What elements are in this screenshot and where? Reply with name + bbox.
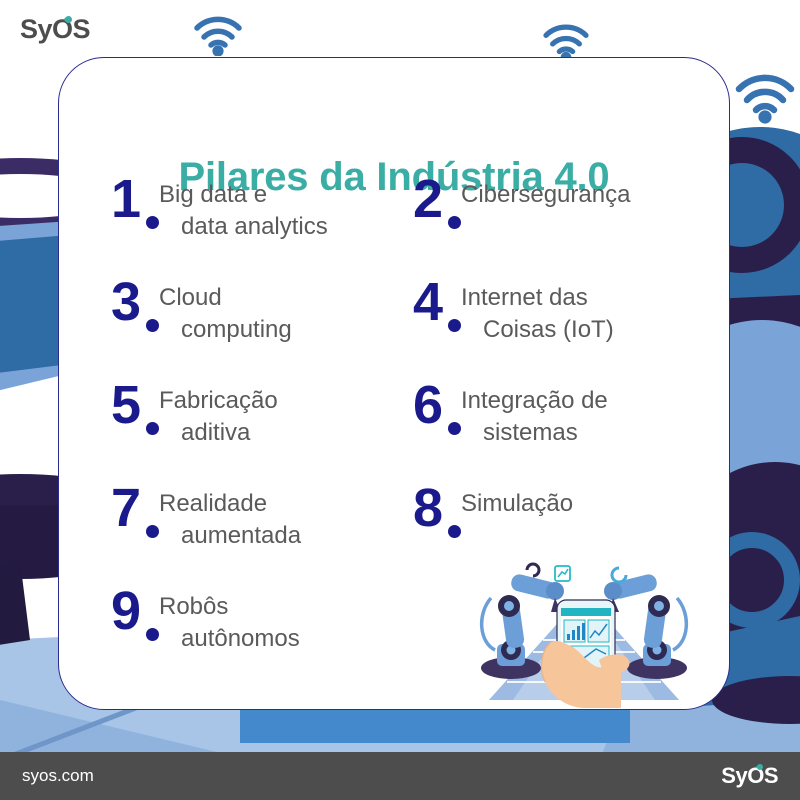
- pillar-label: Robôs autônomos: [159, 590, 401, 654]
- pillar-number: 8: [413, 481, 443, 535]
- pillar-number-wrap: 3: [111, 281, 157, 347]
- pillar-number: 5: [111, 378, 141, 432]
- pillar-item-6[interactable]: 6 Integração de sistemas: [401, 384, 691, 487]
- pillar-item-9[interactable]: 9 Robôs autônomos: [111, 590, 401, 693]
- pillar-row: 3 Cloud computing 4 Internet das: [111, 281, 691, 384]
- pillar-label-line2: aumentada: [159, 520, 401, 552]
- pillar-item-2[interactable]: 2 Cibersegurança: [401, 178, 691, 281]
- pillar-label-line1: Simulação: [461, 490, 573, 517]
- bullet-dot-icon: [448, 422, 461, 435]
- pillar-label-line2: sistemas: [461, 417, 691, 449]
- wifi-icon: [735, 72, 797, 129]
- pillar-label-line2: data analytics: [159, 211, 401, 243]
- pillar-number-wrap: 1: [111, 178, 157, 244]
- pillar-label-line2: computing: [159, 314, 401, 346]
- pillar-number: 4: [413, 275, 443, 329]
- pillar-label-line1: Integração de: [461, 387, 608, 414]
- brand-logo-footer: SyOS: [721, 763, 778, 789]
- pillar-number: 7: [111, 481, 141, 535]
- pillar-number-wrap: 2: [413, 178, 459, 244]
- pillar-label-line2: autônomos: [159, 623, 401, 655]
- logo-accent-o: O: [747, 763, 764, 789]
- infographic-canvas: Pilares da Indústria 4.0 1 Big data e da…: [0, 0, 800, 800]
- pillar-number: 9: [111, 584, 141, 638]
- pillar-item-4[interactable]: 4 Internet das Coisas (IoT): [401, 281, 691, 384]
- pillar-number-wrap: 9: [111, 590, 157, 656]
- pillar-label: Internet das Coisas (IoT): [461, 281, 691, 345]
- bullet-dot-icon: [146, 216, 159, 229]
- bullet-dot-icon: [448, 216, 461, 229]
- bullet-dot-icon: [146, 422, 159, 435]
- logo-text-post: S: [73, 14, 91, 44]
- bullet-dot-icon: [146, 628, 159, 641]
- pillar-label: Fabricação aditiva: [159, 384, 401, 448]
- pillar-number: 3: [111, 275, 141, 329]
- pillar-label-line1: Big data e: [159, 181, 267, 208]
- bullet-dot-icon: [146, 319, 159, 332]
- bottom-blue-band: [240, 710, 630, 743]
- logo-text-post: S: [764, 763, 778, 788]
- bullet-dot-icon: [448, 525, 461, 538]
- pillar-row: 1 Big data e data analytics 2 Cibersegur…: [111, 178, 691, 281]
- pillar-label-line1: Robôs: [159, 593, 228, 620]
- pillar-label: Cloud computing: [159, 281, 401, 345]
- content-card: Pilares da Indústria 4.0 1 Big data e da…: [58, 57, 730, 710]
- pillar-label: Big data e data analytics: [159, 178, 401, 242]
- brand-logo-top: SyOS: [20, 14, 90, 45]
- bullet-dot-icon: [146, 525, 159, 538]
- pillar-number: 1: [111, 172, 141, 226]
- pillar-label-line2: aditiva: [159, 417, 401, 449]
- pillar-number-wrap: 4: [413, 281, 459, 347]
- pillar-row: 5 Fabricação aditiva 6 Integração de: [111, 384, 691, 487]
- logo-accent-o: O: [52, 14, 73, 45]
- footer-bar: syos.com SyOS: [0, 752, 800, 800]
- pillar-number: 2: [413, 172, 443, 226]
- pillar-label-line1: Realidade: [159, 490, 267, 517]
- pillar-label: Integração de sistemas: [461, 384, 691, 448]
- pillar-label-line1: Fabricação: [159, 387, 278, 414]
- pillar-number-wrap: 7: [111, 487, 157, 553]
- pillar-item-3[interactable]: 3 Cloud computing: [111, 281, 401, 384]
- bullet-dot-icon: [448, 319, 461, 332]
- pillar-label: Realidade aumentada: [159, 487, 401, 551]
- pillar-label: Simulação: [461, 487, 691, 520]
- logo-text-pre: Sy: [20, 14, 52, 44]
- pillar-number-wrap: 6: [413, 384, 459, 450]
- wifi-icon: [192, 14, 244, 61]
- pillar-label-line2: Coisas (IoT): [461, 314, 691, 346]
- factory-automation-illustration: [471, 558, 696, 710]
- pillar-number: 6: [413, 378, 443, 432]
- pillar-label-line1: Cibersegurança: [461, 181, 630, 208]
- pillar-label-line1: Internet das: [461, 284, 588, 311]
- pillar-number-wrap: 5: [111, 384, 157, 450]
- pillar-item-1[interactable]: 1 Big data e data analytics: [111, 178, 401, 281]
- pillar-number-wrap: 8: [413, 487, 459, 553]
- pillar-label: Cibersegurança: [461, 178, 691, 211]
- logo-text-pre: Sy: [721, 763, 747, 788]
- footer-website-url[interactable]: syos.com: [22, 766, 94, 786]
- pillar-item-7[interactable]: 7 Realidade aumentada: [111, 487, 401, 590]
- pillar-label-line1: Cloud: [159, 284, 222, 311]
- pillar-item-5[interactable]: 5 Fabricação aditiva: [111, 384, 401, 487]
